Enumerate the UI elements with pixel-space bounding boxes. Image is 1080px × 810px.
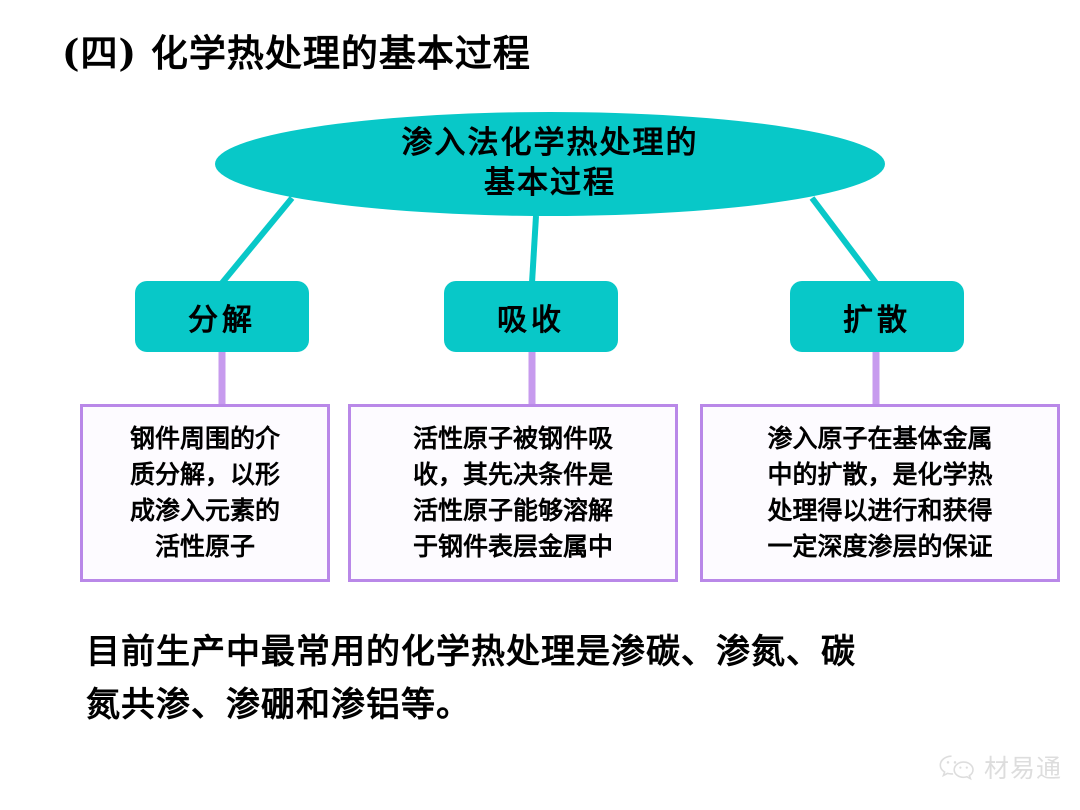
watermark-label: 材易通 bbox=[984, 749, 1062, 785]
summary-paragraph: 目前生产中最常用的化学热处理是渗碳、渗氮、碳 氮共渗、渗硼和渗铝等。 bbox=[86, 626, 1061, 731]
stage-label: 扩散 bbox=[843, 295, 911, 339]
stage-box-absorption: 吸收 bbox=[444, 281, 618, 352]
detail-box-absorption: 活性原子被钢件吸 收，其先决条件是 活性原子能够溶解 于钢件表层金属中 bbox=[348, 404, 678, 582]
summary-line-2: 氮共渗、渗硼和渗铝等。 bbox=[86, 679, 1061, 732]
detail-line: 于钢件表层金属中 bbox=[413, 529, 613, 565]
detail-line: 渗入原子在基体金属 bbox=[767, 421, 992, 457]
detail-line: 收，其先决条件是 bbox=[413, 457, 613, 493]
page-title: (四) 化学热处理的基本过程 bbox=[62, 33, 531, 74]
detail-line: 成渗入元素的 bbox=[130, 493, 280, 529]
detail-line: 活性原子能够溶解 bbox=[413, 493, 613, 529]
detail-line: 钢件周围的介 bbox=[130, 421, 280, 457]
detail-line: 活性原子被钢件吸 bbox=[413, 421, 613, 457]
summary-line-1: 目前生产中最常用的化学热处理是渗碳、渗氮、碳 bbox=[86, 626, 1061, 679]
detail-line: 活性原子 bbox=[155, 529, 255, 565]
stage-box-decomposition: 分解 bbox=[135, 281, 309, 352]
root-node-ellipse: 渗入法化学热处理的 基本过程 bbox=[215, 112, 885, 216]
connector-root-to-stage-2 bbox=[812, 198, 876, 283]
detail-box-diffusion: 渗入原子在基体金属 中的扩散，是化学热 处理得以进行和获得 一定深度渗层的保证 bbox=[700, 404, 1060, 582]
root-node-line-1: 渗入法化学热处理的 bbox=[402, 124, 699, 164]
connector-root-to-stage-0 bbox=[222, 198, 292, 283]
watermark: 材易通 bbox=[937, 749, 1062, 785]
detail-line: 中的扩散，是化学热 bbox=[767, 457, 992, 493]
stage-label: 吸收 bbox=[497, 295, 565, 339]
detail-line: 质分解，以形 bbox=[130, 457, 280, 493]
detail-line: 一定深度渗层的保证 bbox=[767, 529, 992, 565]
stage-label: 分解 bbox=[188, 295, 256, 339]
wechat-icon bbox=[937, 752, 977, 782]
connector-root-to-stage-1 bbox=[532, 216, 536, 283]
slide-canvas: (四) 化学热处理的基本过程 渗入法化学热处理的 基本过程 分解 吸收 扩散 钢… bbox=[0, 0, 1080, 810]
root-node-line-2: 基本过程 bbox=[484, 164, 616, 204]
stage-box-diffusion: 扩散 bbox=[790, 281, 964, 352]
detail-box-decomposition: 钢件周围的介 质分解，以形 成渗入元素的 活性原子 bbox=[80, 404, 330, 582]
detail-line: 处理得以进行和获得 bbox=[767, 493, 992, 529]
